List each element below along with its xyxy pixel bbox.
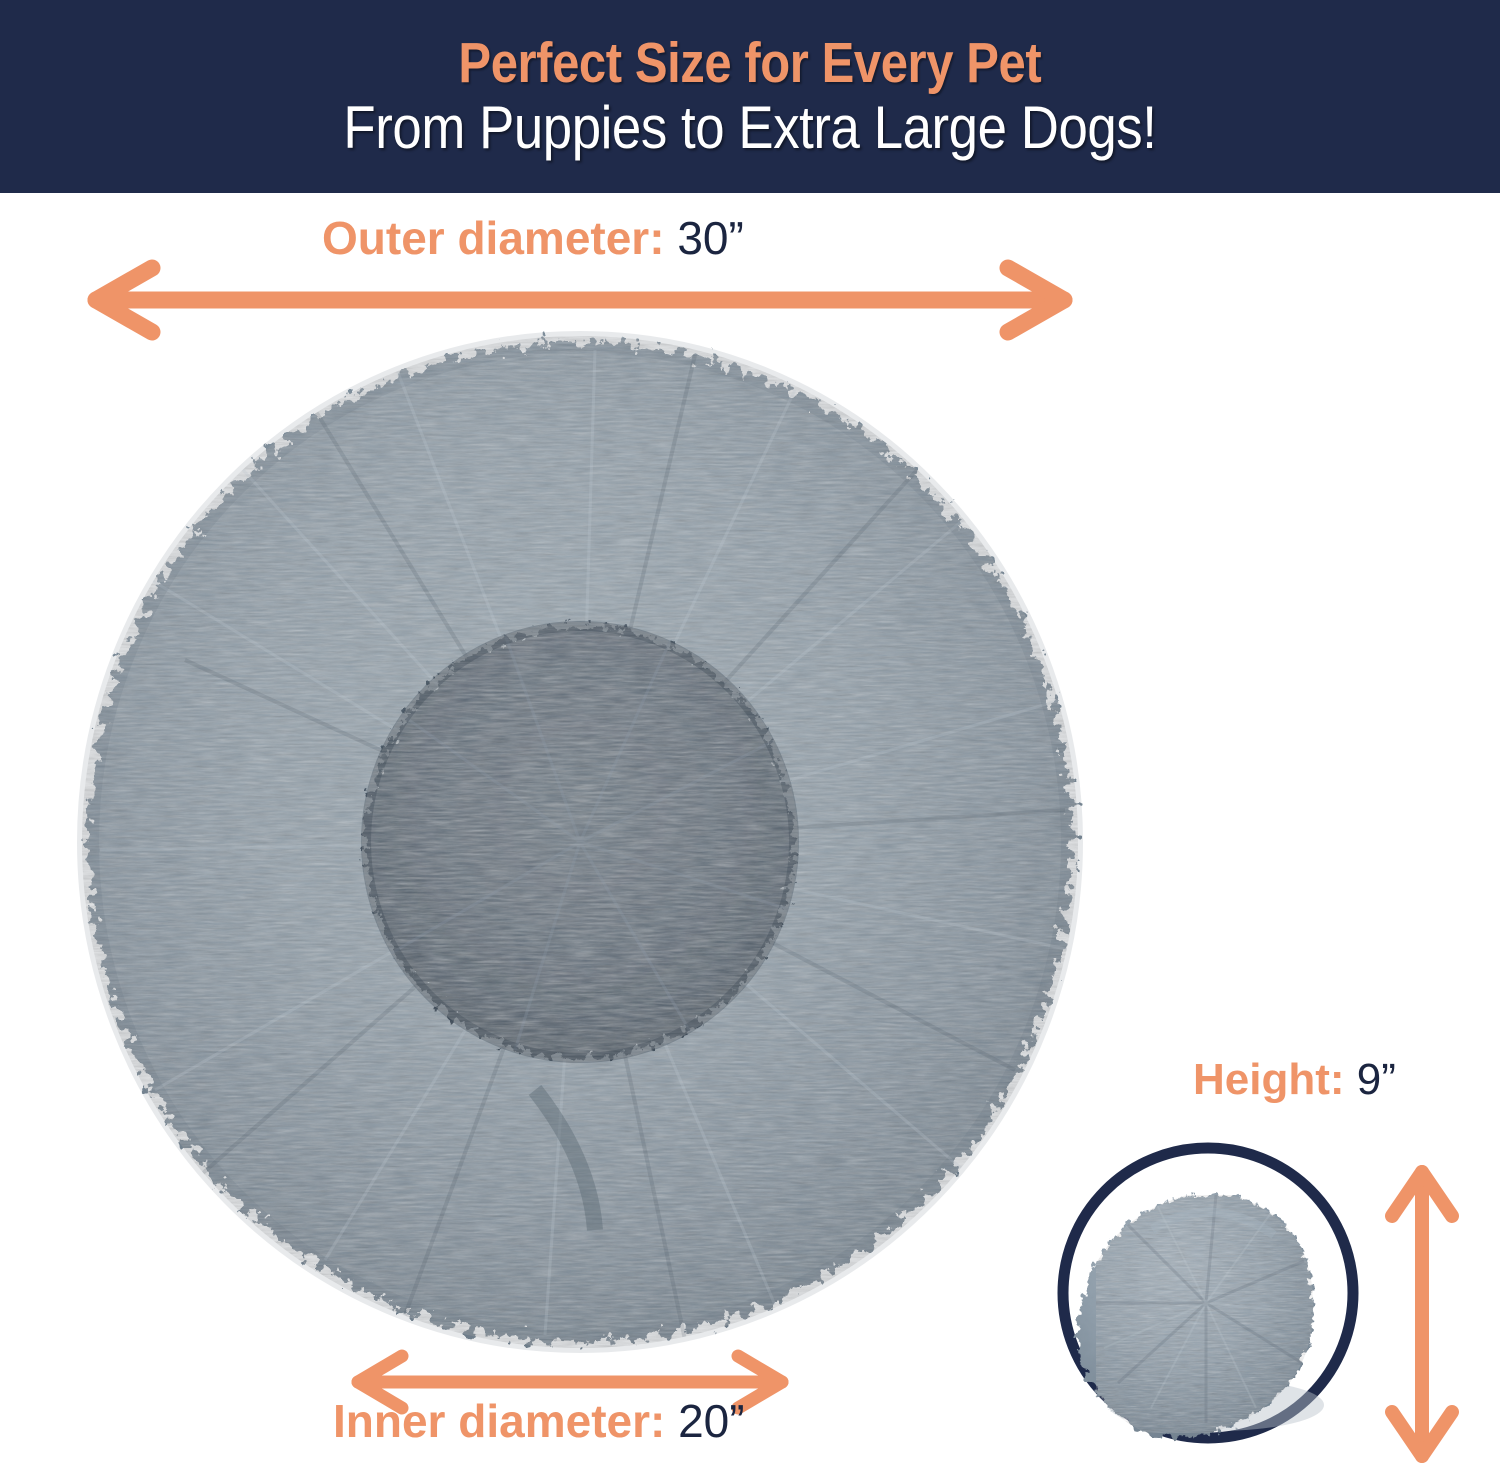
subheadline-text: From Puppies to Extra Large Dogs! [343, 98, 1156, 158]
pet-bed-top-view-graphic [75, 330, 1085, 1355]
height-label: Height: 9” [1193, 1058, 1396, 1102]
height-value: 9” [1357, 1055, 1396, 1104]
height-label-text: Height: [1193, 1055, 1357, 1104]
inner-diameter-label-text: Inner diameter: [333, 1395, 678, 1447]
header-banner: Perfect Size for Every Pet From Puppies … [0, 0, 1500, 193]
pet-bed-side-view-graphic [1056, 1133, 1366, 1453]
inner-diameter-label: Inner diameter: 20” [333, 1398, 745, 1444]
infographic-canvas: Perfect Size for Every Pet From Puppies … [0, 0, 1500, 1475]
pet-bed-top-view [75, 330, 1085, 1355]
headline-text: Perfect Size for Every Pet [459, 35, 1042, 92]
height-arrow-icon [1382, 1158, 1462, 1470]
height-inset-illustration [1056, 1133, 1366, 1453]
inner-diameter-value: 20” [678, 1395, 744, 1447]
